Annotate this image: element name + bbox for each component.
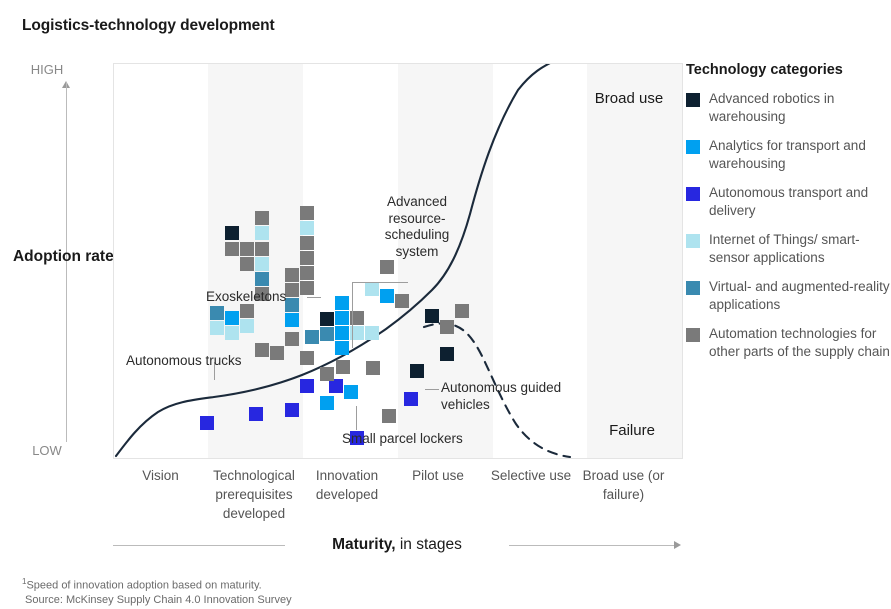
legend-swatch-icon bbox=[686, 187, 700, 201]
data-point bbox=[300, 251, 314, 265]
data-point bbox=[440, 347, 454, 361]
data-point bbox=[300, 379, 314, 393]
data-point bbox=[285, 298, 299, 312]
footnote-source: Source: McKinsey Supply Chain 4.0 Innova… bbox=[22, 593, 292, 607]
data-point bbox=[300, 221, 314, 235]
data-point bbox=[285, 403, 299, 417]
y-axis-title: Adoption rate1 bbox=[2, 243, 130, 266]
data-point bbox=[336, 360, 350, 374]
data-point bbox=[300, 281, 314, 295]
data-point bbox=[255, 272, 269, 286]
data-point bbox=[210, 321, 224, 335]
data-point bbox=[320, 312, 334, 326]
plot-area: Exoskeletons Autonomous trucks Advanced … bbox=[113, 63, 683, 459]
data-point bbox=[300, 236, 314, 250]
data-point bbox=[380, 289, 394, 303]
data-point bbox=[320, 367, 334, 381]
data-point bbox=[255, 211, 269, 225]
data-point bbox=[329, 379, 343, 393]
legend-title: Technology categories bbox=[686, 62, 891, 78]
legend-swatch-icon bbox=[686, 140, 700, 154]
x-tick-selective-use: Selective use bbox=[487, 466, 575, 485]
legend-item-automation-technologies[interactable]: Automation technologies for other parts … bbox=[686, 325, 891, 361]
data-point bbox=[300, 351, 314, 365]
page-title: Logistics-technology development bbox=[22, 17, 275, 35]
data-point bbox=[440, 320, 454, 334]
legend-swatch-icon bbox=[686, 328, 700, 342]
data-point bbox=[249, 407, 263, 421]
y-axis-low-label: LOW bbox=[12, 443, 82, 458]
data-point bbox=[320, 396, 334, 410]
data-point bbox=[300, 206, 314, 220]
annotation-advanced-resource-scheduling-system: Advanced resource-scheduling system bbox=[379, 194, 455, 260]
data-point bbox=[335, 341, 349, 355]
data-point bbox=[404, 392, 418, 406]
annotation-autonomous-guided-vehicles: Autonomous guided vehicles bbox=[441, 380, 571, 413]
data-point bbox=[285, 332, 299, 346]
data-point bbox=[240, 242, 254, 256]
legend-item-label: Advanced robotics in warehousing bbox=[709, 90, 891, 126]
data-point bbox=[285, 313, 299, 327]
data-point bbox=[320, 327, 334, 341]
leader-line-exoskeletons bbox=[307, 297, 321, 298]
data-point bbox=[270, 346, 284, 360]
data-point bbox=[210, 306, 224, 320]
curve-label-broad-use: Broad use bbox=[591, 89, 667, 108]
x-tick-technological-prerequisites-developed: Technological prerequisites developed bbox=[202, 466, 306, 523]
y-axis-high-label: HIGH bbox=[12, 62, 82, 77]
footnotes: 1Speed of innovation adoption based on m… bbox=[22, 575, 292, 607]
data-point bbox=[365, 282, 379, 296]
data-point bbox=[200, 416, 214, 430]
legend-swatch-icon bbox=[686, 93, 700, 107]
data-point bbox=[285, 283, 299, 297]
x-tick-vision: Vision bbox=[113, 466, 208, 485]
legend-item-label: Automation technologies for other parts … bbox=[709, 325, 891, 361]
annotation-exoskeletons: Exoskeletons bbox=[206, 289, 286, 306]
data-point bbox=[305, 330, 319, 344]
legend-item-internet-of-things[interactable]: Internet of Things/ smart-sensor applica… bbox=[686, 231, 891, 267]
data-point bbox=[240, 319, 254, 333]
data-point bbox=[285, 268, 299, 282]
data-point bbox=[344, 385, 358, 399]
x-tick-innovation-developed: Innovation developed bbox=[303, 466, 391, 504]
data-point bbox=[255, 343, 269, 357]
trend-curves bbox=[114, 64, 682, 458]
data-point bbox=[225, 226, 239, 240]
leader-line-small-parcel-lockers bbox=[356, 406, 357, 430]
legend-swatch-icon bbox=[686, 234, 700, 248]
data-point bbox=[365, 326, 379, 340]
data-point bbox=[335, 326, 349, 340]
curve-label-failure: Failure bbox=[594, 421, 670, 440]
footnote-note-text: Speed of innovation adoption based on ma… bbox=[26, 580, 261, 592]
data-point bbox=[225, 326, 239, 340]
data-point bbox=[300, 266, 314, 280]
legend-item-autonomous-transport[interactable]: Autonomous transport and delivery bbox=[686, 184, 891, 220]
annotation-small-parcel-lockers: Small parcel lockers bbox=[342, 431, 463, 448]
legend-swatch-icon bbox=[686, 281, 700, 295]
data-point bbox=[380, 260, 394, 274]
x-axis-title-bold: Maturity, bbox=[332, 536, 395, 553]
data-point bbox=[455, 304, 469, 318]
legend-item-virtual-augmented-reality[interactable]: Virtual- and augmented-reality applicati… bbox=[686, 278, 891, 314]
legend: Technology categories Advanced robotics … bbox=[686, 62, 891, 372]
data-point bbox=[335, 296, 349, 310]
data-point bbox=[395, 294, 409, 308]
legend-item-label: Autonomous transport and delivery bbox=[709, 184, 891, 220]
footnote-note: 1Speed of innovation adoption based on m… bbox=[22, 575, 292, 593]
data-point bbox=[366, 361, 380, 375]
data-point bbox=[240, 304, 254, 318]
data-point bbox=[255, 257, 269, 271]
data-point bbox=[225, 311, 239, 325]
data-point bbox=[225, 242, 239, 256]
x-axis-title-group: Maturity, in stages bbox=[113, 534, 681, 556]
legend-item-label: Analytics for transport and warehousing bbox=[709, 137, 891, 173]
legend-item-label: Internet of Things/ smart-sensor applica… bbox=[709, 231, 891, 267]
legend-item-advanced-robotics[interactable]: Advanced robotics in warehousing bbox=[686, 90, 891, 126]
data-point bbox=[410, 364, 424, 378]
y-axis-title-text: Adoption rate bbox=[13, 248, 114, 265]
data-point bbox=[335, 311, 349, 325]
x-axis-title-rest: in stages bbox=[396, 536, 462, 553]
leader-line-advanced-resource-scheduling-h bbox=[352, 282, 408, 283]
data-point bbox=[240, 257, 254, 271]
data-point bbox=[425, 309, 439, 323]
x-tick-pilot-use: Pilot use bbox=[397, 466, 479, 485]
data-point bbox=[255, 226, 269, 240]
leader-line-advanced-resource-scheduling bbox=[352, 282, 353, 348]
data-point bbox=[382, 409, 396, 423]
x-axis-title: Maturity, in stages bbox=[113, 534, 681, 556]
x-tick-broad-use-or-failure: Broad use (or failure) bbox=[576, 466, 671, 504]
leader-line-autonomous-guided-vehicles bbox=[425, 389, 439, 390]
data-point bbox=[255, 242, 269, 256]
annotation-autonomous-trucks: Autonomous trucks bbox=[126, 353, 242, 370]
legend-item-analytics[interactable]: Analytics for transport and warehousing bbox=[686, 137, 891, 173]
legend-item-label: Virtual- and augmented-reality applicati… bbox=[709, 278, 891, 314]
